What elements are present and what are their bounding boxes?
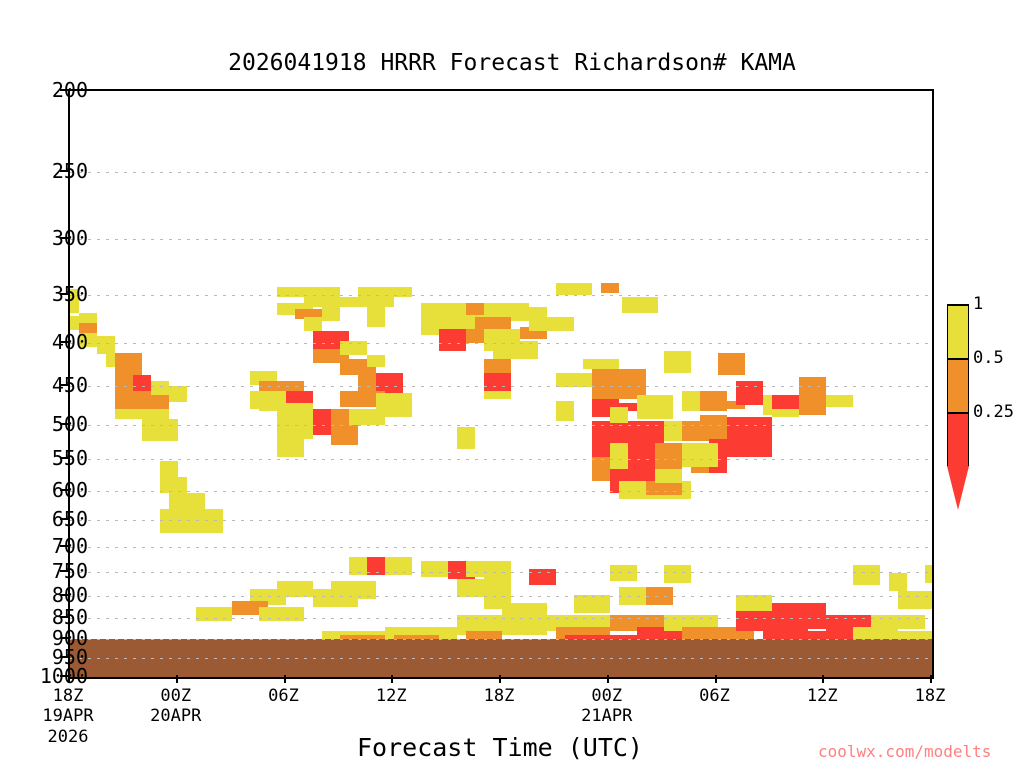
heatmap-cell (169, 493, 205, 509)
x-axis-tick-label: 12Z (782, 686, 862, 706)
heatmap-cell (511, 619, 547, 633)
y-axis-tick-mark (60, 384, 68, 386)
x-axis-tick-label: 06Z (244, 686, 324, 706)
gridline-horizontal (70, 677, 932, 678)
gridline-horizontal (70, 295, 932, 296)
heatmap-cell (484, 391, 511, 399)
heatmap-cell (682, 443, 718, 467)
heatmap-cell (718, 353, 745, 375)
heatmap-cell (637, 395, 673, 419)
y-axis-tick-mark (60, 518, 68, 520)
heatmap-cell (142, 419, 178, 441)
heatmap-cell (322, 307, 340, 321)
heatmap-cell (115, 353, 142, 375)
heatmap-cell (376, 393, 412, 417)
x-axis-tick-label: 00Z (567, 686, 647, 706)
y-axis-tick-label: 450 (18, 373, 88, 397)
heatmap-cell (682, 391, 700, 411)
colorbar-arrow-top (947, 276, 969, 304)
heatmap-cell (70, 316, 79, 330)
heatmap-cell (439, 329, 466, 351)
gridline-horizontal (70, 239, 932, 240)
heatmap-cell (277, 581, 313, 597)
heatmap-cell (853, 565, 880, 585)
x-axis-title: Forecast Time (UTC) (150, 733, 850, 762)
heatmap-cell (115, 409, 169, 419)
x-axis-date-label: 21APR (567, 706, 647, 726)
y-axis-tick-mark (60, 616, 68, 618)
y-axis-tick-mark (60, 637, 68, 639)
heatmap-cell (583, 359, 619, 369)
heatmap-cell (151, 381, 169, 395)
heatmap-cell (655, 443, 682, 469)
heatmap-cell (574, 595, 610, 613)
y-axis-tick-label: 700 (18, 534, 88, 558)
heatmap-cell (622, 297, 658, 313)
x-axis-date-label: 19APR (28, 706, 108, 726)
heatmap-cell (484, 373, 511, 391)
colorbar-divider (947, 304, 969, 306)
heatmap-cell (169, 386, 187, 402)
heatmap-cell (700, 391, 727, 411)
y-axis-tick-label: 800 (18, 583, 88, 607)
y-axis-tick-mark (60, 293, 68, 295)
heatmap-cell (889, 573, 907, 591)
gridline-horizontal (70, 658, 932, 659)
y-axis-tick-mark (60, 341, 68, 343)
y-axis-tick-label: 350 (18, 282, 88, 306)
gridline-horizontal (70, 425, 932, 426)
y-axis-tick-mark (60, 170, 68, 172)
y-axis-tick-mark (60, 594, 68, 596)
colorbar-tick-label: 0.25 (973, 402, 1014, 422)
x-axis-tick-label: 06Z (675, 686, 755, 706)
heatmap-cell (367, 297, 385, 327)
x-axis-tick-mark (68, 675, 70, 683)
gridline-horizontal (70, 596, 932, 597)
plot-area (68, 89, 934, 679)
x-axis-tick-mark (715, 675, 717, 683)
x-axis-tick-label: 00Z (136, 686, 216, 706)
x-axis-tick-label: 18Z (890, 686, 970, 706)
heatmap-cell (160, 461, 178, 477)
gridline-horizontal (70, 172, 932, 173)
heatmap-cell (367, 355, 385, 367)
y-axis-tick-mark (60, 423, 68, 425)
colorbar: 10.50.25 (947, 304, 969, 466)
heatmap-cell (277, 439, 304, 457)
y-axis-tick-mark (60, 237, 68, 239)
heatmap-cell (655, 469, 682, 483)
heatmap-cell (277, 403, 313, 425)
heatmap-cell (898, 591, 934, 609)
gridline-horizontal (70, 547, 932, 548)
heatmap-cell (925, 565, 934, 583)
heatmap-cell (601, 283, 619, 293)
y-axis-tick-label: 200 (18, 78, 88, 102)
y-axis-tick-label: 500 (18, 412, 88, 436)
heatmap-cell (484, 359, 511, 373)
colorbar-tick-label: 0.5 (973, 348, 1004, 368)
heatmap-cell (826, 395, 853, 407)
heatmap-cell (799, 395, 826, 415)
gridline-horizontal (70, 572, 932, 573)
colorbar-segment-mid (947, 358, 969, 412)
colorbar-divider (947, 412, 969, 414)
heatmap-cell (304, 317, 322, 331)
heatmap-cell (556, 401, 574, 421)
colorbar-tick-label: 1 (973, 294, 983, 314)
x-axis-tick-mark (284, 675, 286, 683)
y-axis-tick-mark (60, 570, 68, 572)
x-axis-tick-mark (176, 675, 178, 683)
heatmap-cell (700, 415, 727, 439)
y-axis-tick-label: 550 (18, 446, 88, 470)
colorbar-segment-low (947, 412, 969, 466)
heatmap-cell (556, 283, 592, 295)
heatmap-cell (259, 607, 304, 621)
x-axis-tick-mark (391, 675, 393, 683)
heatmap-cell (628, 443, 655, 469)
x-axis-year-label: 2026 (28, 727, 108, 747)
heatmap-cells (70, 91, 932, 677)
gridline-horizontal (70, 386, 932, 387)
heatmap-cell (493, 349, 538, 359)
colorbar-arrow-bottom (947, 466, 969, 510)
heatmap-cell (646, 481, 682, 495)
heatmap-cell (421, 561, 448, 577)
heatmap-cell (133, 375, 151, 391)
heatmap-cell (664, 565, 691, 583)
y-axis-tick-mark (60, 545, 68, 547)
heatmap-cell (610, 407, 628, 423)
x-axis-tick-mark (607, 675, 609, 683)
watermark: coolwx.com/modelts (818, 742, 991, 761)
heatmap-cell (115, 375, 133, 391)
heatmap-cell (196, 607, 232, 621)
colorbar-segment-high (947, 304, 969, 358)
gridline-horizontal (70, 491, 932, 492)
x-axis-tick-mark (930, 675, 932, 683)
y-axis-tick-label: 600 (18, 478, 88, 502)
chart-title: 2026041918 HRRR Forecast Richardson# KAM… (0, 50, 1024, 76)
y-axis-tick-mark (60, 675, 68, 677)
x-axis-tick-mark (499, 675, 501, 683)
x-axis-tick-mark (822, 675, 824, 683)
x-axis-date-label: 20APR (136, 706, 216, 726)
y-axis-tick-mark (60, 89, 68, 91)
heatmap-cell (79, 313, 97, 323)
heatmap-cell (529, 317, 574, 331)
gridline-horizontal (70, 459, 932, 460)
heatmap-cell (772, 603, 826, 629)
x-axis-tick-label: 12Z (351, 686, 431, 706)
y-axis-tick-mark (60, 656, 68, 658)
heatmap-cell (484, 329, 520, 341)
y-axis-tick-mark (60, 489, 68, 491)
heatmap-cell (772, 395, 799, 409)
y-axis-tick-label: 250 (18, 159, 88, 183)
x-axis-tick-label: 18Z (28, 686, 108, 706)
y-axis-tick-label: 400 (18, 330, 88, 354)
heatmap-cell (736, 381, 763, 405)
y-axis-tick-mark (60, 457, 68, 459)
heatmap-cell (421, 303, 466, 315)
gridline-horizontal (70, 343, 932, 344)
x-axis-tick-label: 18Z (459, 686, 539, 706)
y-axis-tick-label: 650 (18, 507, 88, 531)
heatmap-cell (457, 427, 475, 449)
gridline-horizontal (70, 520, 932, 521)
y-axis-tick-label: 1000 (18, 664, 88, 688)
y-axis-tick-label: 300 (18, 226, 88, 250)
gridline-horizontal (70, 639, 932, 640)
heatmap-cell (727, 443, 772, 457)
heatmap-cell (97, 336, 115, 354)
y-axis-tick-label: 750 (18, 559, 88, 583)
gridline-horizontal (70, 618, 932, 619)
heatmap-cell (484, 561, 511, 591)
heatmap-cell (313, 589, 358, 607)
colorbar-divider (947, 358, 969, 360)
heatmap-cell (556, 373, 592, 387)
heatmap-cell (664, 351, 691, 373)
